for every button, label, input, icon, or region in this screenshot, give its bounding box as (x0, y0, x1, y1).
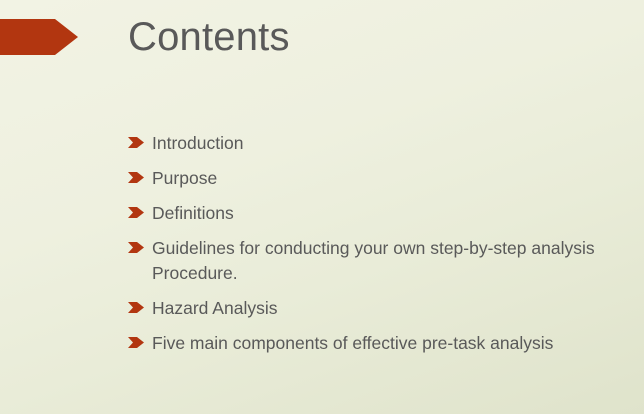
title-arrow-decoration (0, 19, 80, 55)
arrow-bullet-icon (128, 166, 148, 183)
arrow-bullet-icon (128, 296, 148, 313)
list-item: Five main components of effective pre-ta… (128, 331, 628, 356)
list-item: Guidelines for conducting your own step-… (128, 236, 628, 286)
contents-list: Introduction Purpose Definitions (128, 131, 628, 366)
list-item-label: Hazard Analysis (152, 296, 628, 321)
list-item: Hazard Analysis (128, 296, 628, 321)
list-item: Purpose (128, 166, 628, 191)
arrow-bullet-icon (128, 131, 148, 148)
slide: Contents Introduction Purpose (0, 0, 644, 414)
list-item-label: Purpose (152, 166, 628, 191)
list-item: Introduction (128, 131, 628, 156)
arrow-bullet-icon (128, 201, 148, 218)
list-item-label: Introduction (152, 131, 628, 156)
list-item-label: Definitions (152, 201, 628, 226)
list-item-label: Five main components of effective pre-ta… (152, 331, 628, 356)
arrow-bullet-icon (128, 236, 148, 253)
list-item-label: Guidelines for conducting your own step-… (152, 236, 628, 286)
arrow-bullet-icon (128, 331, 148, 348)
list-item: Definitions (128, 201, 628, 226)
page-title: Contents (128, 13, 290, 61)
